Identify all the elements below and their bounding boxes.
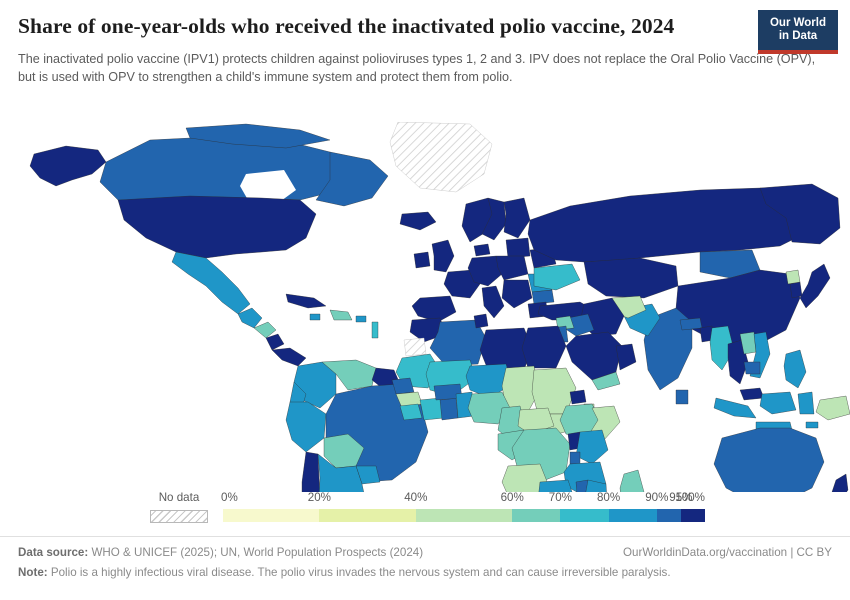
legend-no-data-label: No data xyxy=(145,492,213,510)
country-chile xyxy=(300,452,320,492)
country-iceland xyxy=(400,212,436,230)
country-jamaica xyxy=(310,314,320,320)
country-papua-new-guinea xyxy=(816,396,850,420)
country-madagascar xyxy=(620,470,644,492)
country-philippines xyxy=(784,350,806,388)
country-nepal-bhutan xyxy=(680,318,702,330)
footer-note-row: Note: Polio is a highly infectious viral… xyxy=(18,559,832,579)
owid-logo[interactable]: Our World in Data xyxy=(758,10,838,54)
country-indonesia-borneo xyxy=(760,392,796,414)
country-baltics xyxy=(506,238,530,258)
legend-tick-1: 20% xyxy=(308,492,331,504)
country-haiti-dominican xyxy=(330,310,352,320)
chart-footer: Data source: WHO & UNICEF (2025); UN, Wo… xyxy=(0,536,850,579)
chart-header: Share of one-year-olds who received the … xyxy=(0,0,850,87)
legend-bin-0[interactable] xyxy=(223,509,319,522)
page-title: Share of one-year-olds who received the … xyxy=(18,12,708,40)
country-north-korea xyxy=(786,270,800,284)
country-eritrea xyxy=(570,390,586,404)
map-countries xyxy=(30,122,850,492)
legend-bin-3[interactable] xyxy=(512,509,560,522)
legend-tick-3: 60% xyxy=(501,492,524,504)
country-rwanda-burundi xyxy=(570,452,580,464)
country-cuba xyxy=(286,294,326,308)
legend-tick-0: 0% xyxy=(221,492,238,504)
country-peru xyxy=(286,402,326,452)
country-malaysia xyxy=(740,388,764,400)
footer-note: Note: Polio is a highly infectious viral… xyxy=(18,566,671,579)
legend-tick-2: 40% xyxy=(404,492,427,504)
country-kazakhstan xyxy=(584,258,678,298)
country-japan xyxy=(800,264,830,308)
country-timor xyxy=(806,422,818,428)
legend-bin-1[interactable] xyxy=(319,509,415,522)
footer-source-text: WHO & UNICEF (2025); UN, World Populatio… xyxy=(91,546,423,559)
country-ukraine xyxy=(534,264,580,290)
country-lesser-antilles xyxy=(372,322,378,338)
country-balkans xyxy=(502,280,532,308)
footer-attribution[interactable]: OurWorldinData.org/vaccination | CC BY xyxy=(623,546,832,559)
footer-source-label: Data source: xyxy=(18,546,88,559)
country-ghana xyxy=(440,398,458,420)
legend-bin-5[interactable] xyxy=(609,509,657,522)
country-egypt xyxy=(522,326,566,368)
country-korea-south xyxy=(790,282,802,298)
country-kenya xyxy=(576,430,608,464)
logo-line-2: in Data xyxy=(779,30,817,43)
legend-scale[interactable]: 0%20%40%60%70%80%90%95%100% xyxy=(223,492,705,522)
legend-bin-7[interactable] xyxy=(681,509,705,522)
footer-source: Data source: WHO & UNICEF (2025); UN, Wo… xyxy=(18,546,423,559)
country-nicaragua xyxy=(266,334,284,350)
country-indonesia-sumatra xyxy=(714,398,756,418)
country-ireland xyxy=(414,252,430,268)
legend-tick-8: 100% xyxy=(675,492,705,504)
chart-subtitle: The inactivated polio vaccine (IPV1) pro… xyxy=(18,51,830,87)
legend-tick-6: 90% xyxy=(645,492,668,504)
country-cambodia xyxy=(744,362,760,374)
legend-no-data[interactable]: No data xyxy=(145,492,213,523)
legend-bin-4[interactable] xyxy=(560,509,608,522)
country-indonesia-sulawesi xyxy=(798,392,814,414)
world-choropleth-map[interactable] xyxy=(0,122,850,492)
country-western-sahara xyxy=(404,338,426,356)
owid-chart-page: Share of one-year-olds who received the … xyxy=(0,0,850,600)
country-greenland xyxy=(390,122,492,192)
legend-tick-4: 70% xyxy=(549,492,572,504)
country-finland xyxy=(504,198,530,238)
country-sierra-leone-liberia xyxy=(400,404,422,420)
country-united-states xyxy=(118,196,316,258)
country-alaska xyxy=(30,146,106,186)
country-sri-lanka xyxy=(676,390,688,404)
legend-bin-6[interactable] xyxy=(657,509,681,522)
footer-note-text: Polio is a highly infectious viral disea… xyxy=(51,566,671,579)
country-tunisia xyxy=(474,314,488,328)
footer-note-label: Note: xyxy=(18,566,48,579)
legend-color-bar[interactable] xyxy=(223,509,705,522)
legend-tick-labels: 0%20%40%60%70%80%90%95%100% xyxy=(223,492,705,508)
logo-line-1: Our World xyxy=(770,17,826,30)
country-poland-cz xyxy=(496,256,528,280)
map-legend: No data 0%20%40%60%70%80%90%95%100% xyxy=(0,492,850,534)
country-puerto-rico xyxy=(356,316,366,322)
country-costa-rica-panama xyxy=(272,348,306,366)
country-united-kingdom xyxy=(432,240,454,272)
country-oman-uae xyxy=(616,344,636,370)
country-new-zealand xyxy=(830,474,848,492)
country-china xyxy=(676,270,800,346)
country-spain-portugal xyxy=(412,296,456,322)
legend-bin-2[interactable] xyxy=(416,509,512,522)
footer-source-row: Data source: WHO & UNICEF (2025); UN, Wo… xyxy=(18,537,832,559)
country-bulgaria xyxy=(532,290,554,304)
country-italy xyxy=(482,286,504,318)
country-senegal xyxy=(392,378,414,394)
country-australia xyxy=(714,428,824,492)
legend-no-data-swatch xyxy=(150,510,208,523)
country-denmark xyxy=(474,244,490,256)
country-mexico xyxy=(172,252,250,314)
legend-tick-5: 80% xyxy=(597,492,620,504)
